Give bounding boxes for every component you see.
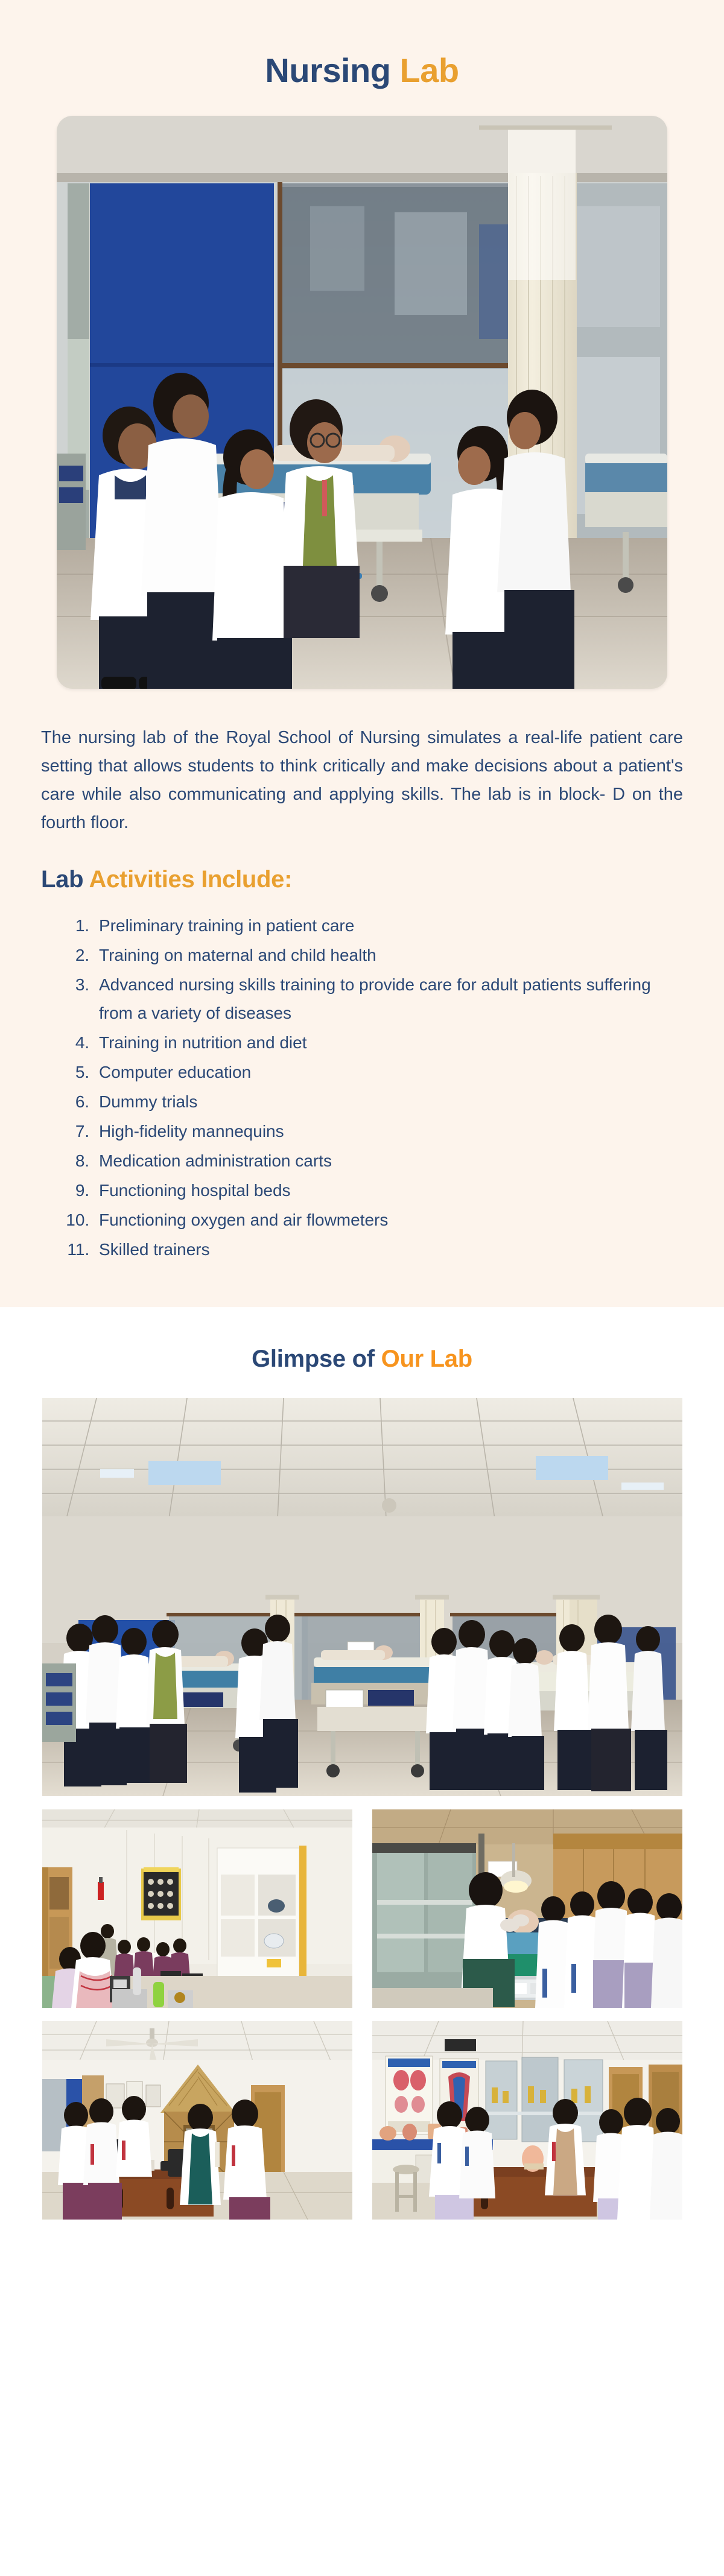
page-title-accent: Lab (400, 51, 459, 89)
list-item: Dummy trials (94, 1087, 685, 1116)
list-item: Computer education (94, 1058, 685, 1086)
gallery-item-3 (42, 2021, 352, 2220)
gallery-section: Glimpse of Our Lab (0, 1307, 724, 2255)
gallery-heading: Glimpse of Our Lab (0, 1346, 724, 1373)
nursing-lab-section: Nursing Lab (0, 0, 724, 1307)
list-item: Skilled trainers (94, 1235, 685, 1264)
gallery-featured-image (42, 1398, 682, 1796)
list-item: Training on maternal and child health (94, 941, 685, 969)
anatomy-lab-illustration (372, 2021, 682, 2220)
page-title-primary: Nursing (265, 51, 399, 89)
intro-paragraph: The nursing lab of the Royal School of N… (39, 724, 685, 837)
activities-heading-accent: Activities Include: (89, 866, 293, 893)
list-item: Preliminary training in patient care (94, 911, 685, 940)
activities-heading: Lab Activities Include: (39, 866, 685, 893)
activities-list: Preliminary training in patient care Tra… (39, 911, 685, 1264)
demonstration-illustration (372, 1809, 682, 2008)
list-item: Advanced nursing skills training to prov… (94, 970, 685, 1027)
list-item: Medication administration carts (94, 1147, 685, 1175)
gallery-featured-illustration (42, 1398, 682, 1796)
nutrition-lab-illustration (42, 1809, 352, 2008)
page-title: Nursing Lab (0, 0, 724, 89)
gallery-item-2 (372, 1809, 682, 2008)
list-item: Functioning hospital beds (94, 1176, 685, 1204)
hero-photo-illustration (57, 116, 667, 689)
list-item: High-fidelity mannequins (94, 1117, 685, 1145)
gallery-heading-accent: Our Lab (381, 1346, 472, 1372)
gallery-item-4 (372, 2021, 682, 2220)
activities-heading-primary: Lab (41, 866, 89, 893)
gallery-grid (42, 1809, 682, 2220)
list-item: Training in nutrition and diet (94, 1028, 685, 1057)
community-health-illustration (42, 2021, 352, 2220)
gallery-item-1 (42, 1809, 352, 2008)
list-item: Functioning oxygen and air flowmeters (94, 1206, 685, 1234)
hero-image (57, 116, 667, 689)
gallery-heading-primary: Glimpse of (252, 1346, 381, 1372)
